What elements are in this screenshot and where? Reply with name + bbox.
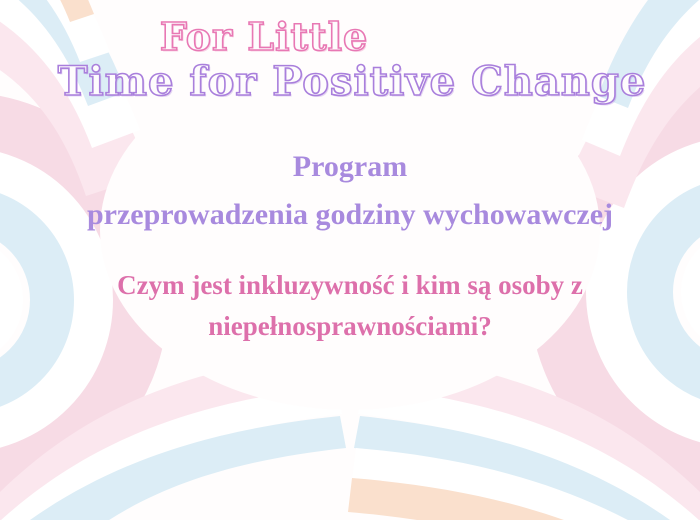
slide-content: For Little Time for Positive Change Prog… bbox=[0, 0, 700, 520]
title-line-2: Time for Positive Change bbox=[4, 62, 700, 102]
program-heading-block: Program przeprowadzenia godziny wychowaw… bbox=[0, 148, 700, 234]
slide-canvas: For Little Time for Positive Change Prog… bbox=[0, 0, 700, 520]
question-line-1: Czym jest inkluzywność i kim są osoby z bbox=[0, 268, 700, 303]
program-description: przeprowadzenia godziny wychowawczej bbox=[0, 196, 700, 234]
title-block: For Little Time for Positive Change bbox=[0, 18, 700, 102]
program-label: Program bbox=[0, 148, 700, 186]
question-line-2: niepełnosprawnościami? bbox=[0, 309, 700, 344]
title-line-1: For Little bbox=[0, 18, 700, 56]
question-block: Czym jest inkluzywność i kim są osoby z … bbox=[0, 268, 700, 344]
